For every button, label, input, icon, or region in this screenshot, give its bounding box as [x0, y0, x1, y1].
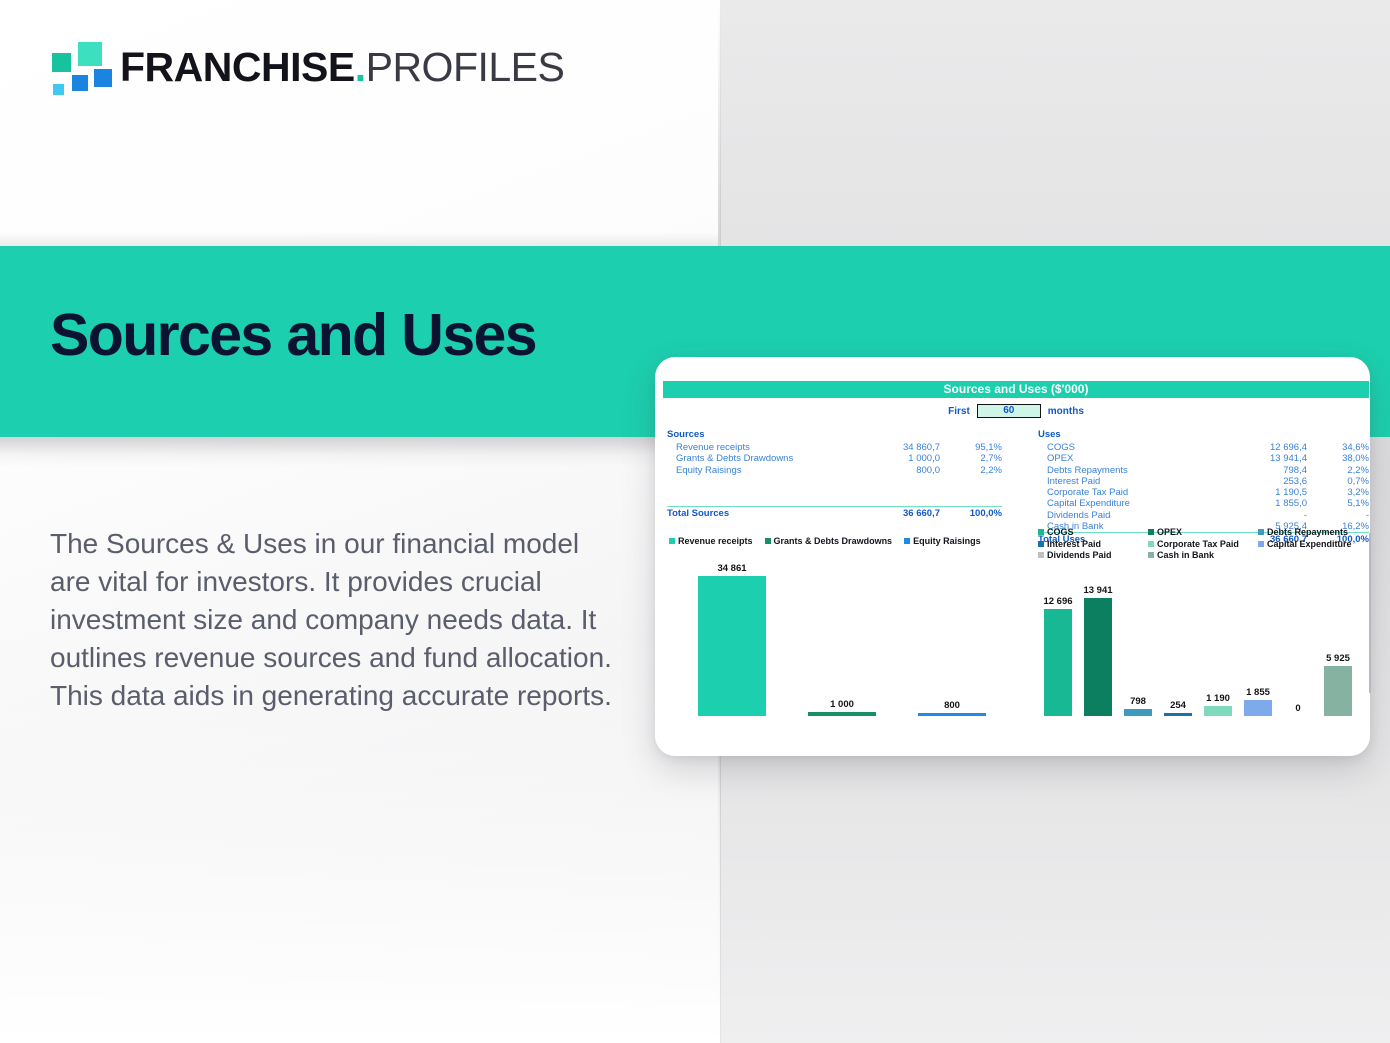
row-label: Interest Paid — [1038, 476, 1221, 487]
row-value: 1 190,5 — [1221, 487, 1307, 498]
period-selector-row: First 60 months — [663, 403, 1369, 419]
logo-square-teal-light — [76, 40, 104, 68]
legend-swatch-icon — [1148, 529, 1154, 535]
logo-square-blue-large — [92, 67, 114, 89]
legend-swatch-icon — [1258, 541, 1264, 547]
legend-swatch-icon — [765, 538, 771, 544]
months-input[interactable]: 60 — [977, 404, 1041, 418]
band-bottom-shadow — [0, 437, 720, 467]
row-label: Dividends Paid — [1038, 510, 1221, 521]
row-value: 1 000,0 — [854, 453, 940, 464]
legend-label: Revenue receipts — [678, 536, 753, 546]
bar — [698, 576, 766, 716]
row-label: Capital Expenditure — [1038, 498, 1221, 509]
period-suffix-label: months — [1048, 406, 1084, 417]
legend-label: Equity Raisings — [913, 536, 981, 546]
total-percent: 100,0% — [940, 508, 1002, 520]
row-percent: 0,7% — [1307, 476, 1369, 487]
legend-label: Capital Expenditure — [1267, 539, 1352, 549]
row-label: Grants & Debts Drawdowns — [667, 453, 854, 464]
legend-swatch-icon — [1258, 529, 1264, 535]
legend-label: OPEX — [1157, 527, 1182, 537]
sources-chart-legend: Revenue receiptsGrants & Debts Drawdowns… — [669, 536, 1009, 546]
row-label: Revenue receipts — [667, 442, 854, 453]
table-row: Interest Paid 253,6 0,7% — [1038, 476, 1369, 487]
bar-value-label: 0 — [1295, 703, 1300, 714]
row-value: 798,4 — [1221, 465, 1307, 476]
row-percent: 2,2% — [940, 465, 1002, 476]
bar-value-label: 5 925 — [1326, 653, 1350, 664]
legend-item[interactable]: Interest Paid — [1038, 539, 1148, 549]
bar-value-label: 34 861 — [717, 563, 746, 574]
table-spacer — [667, 476, 1002, 506]
bar-column[interactable]: 5 925 — [1318, 553, 1358, 716]
total-value: 36 660,7 — [854, 508, 940, 520]
bar — [1164, 713, 1193, 716]
bar — [1204, 706, 1233, 716]
row-percent: 2,2% — [1307, 465, 1369, 476]
bar-column[interactable]: 0 — [1278, 553, 1318, 716]
row-value: 13 941,4 — [1221, 453, 1307, 464]
brand-name-bold: FRANCHISE — [120, 44, 355, 90]
brand-wordmark: FRANCHISE.PROFILES — [120, 47, 564, 88]
bar-value-label: 13 941 — [1083, 585, 1112, 596]
table-row: Grants & Debts Drawdowns 1 000,0 2,7% — [667, 453, 1002, 464]
row-percent: - — [1307, 510, 1369, 521]
legend-item[interactable]: Revenue receipts — [669, 536, 753, 546]
bar — [1124, 709, 1153, 716]
table-row: OPEX 13 941,4 38,0% — [1038, 453, 1369, 464]
legend-item[interactable]: Capital Expenditure — [1258, 539, 1368, 549]
table-row: Dividends Paid - - — [1038, 510, 1369, 521]
sources-total-row: Total Sources 36 660,7 100,0% — [667, 506, 1002, 520]
bar-value-label: 12 696 — [1043, 596, 1072, 607]
legend-swatch-icon — [1038, 529, 1044, 535]
row-value: 34 860,7 — [854, 442, 940, 453]
uses-chart-plot: 12 69613 9417982541 1901 85505 925 — [1038, 553, 1358, 716]
period-prefix-label: First — [948, 406, 970, 417]
page-title: Sources and Uses — [50, 305, 536, 367]
table-row: COGS 12 696,4 34,6% — [1038, 442, 1369, 453]
spreadsheet-panel: Sources and Uses ($'000) First 60 months… — [663, 381, 1363, 741]
legend-label: Debts Repayments — [1267, 527, 1348, 537]
row-percent: 38,0% — [1307, 453, 1369, 464]
legend-swatch-icon — [904, 538, 910, 544]
row-label: Corporate Tax Paid — [1038, 487, 1221, 498]
uses-bar-chart: 12 69613 9417982541 1901 85505 925 — [1038, 553, 1358, 716]
sheet-title-bar: Sources and Uses ($'000) — [663, 381, 1369, 398]
bar — [1324, 666, 1353, 716]
brand-name-thin: PROFILES — [366, 44, 565, 90]
brand-name-dot: . — [355, 44, 366, 90]
legend-item[interactable]: Equity Raisings — [904, 536, 981, 546]
bar-value-label: 798 — [1130, 696, 1146, 707]
table-row: Debts Repayments 798,4 2,2% — [1038, 465, 1369, 476]
bar-value-label: 1 190 — [1206, 693, 1230, 704]
total-label: Total Sources — [667, 508, 854, 520]
logo-square-cyan — [51, 82, 66, 97]
sources-table: Sources Revenue receipts 34 860,7 95,1% … — [667, 429, 1002, 519]
row-label: COGS — [1038, 442, 1221, 453]
row-label: Equity Raisings — [667, 465, 854, 476]
row-percent: 34,6% — [1307, 442, 1369, 453]
sources-table-header: Sources — [667, 429, 1002, 440]
legend-label: Corporate Tax Paid — [1157, 539, 1239, 549]
bar-value-label: 254 — [1170, 700, 1186, 711]
legend-swatch-icon — [669, 538, 675, 544]
legend-item[interactable]: Corporate Tax Paid — [1148, 539, 1258, 549]
bar-column[interactable]: 13 941 — [1078, 553, 1118, 716]
legend-item[interactable]: OPEX — [1148, 527, 1258, 537]
table-row: Corporate Tax Paid 1 190,5 3,2% — [1038, 487, 1369, 498]
bar-column[interactable]: 1 190 — [1198, 553, 1238, 716]
row-value: 1 855,0 — [1221, 498, 1307, 509]
table-row: Revenue receipts 34 860,7 95,1% — [667, 442, 1002, 453]
sources-chart-plot: 34 8611 000800 — [677, 561, 1007, 716]
background-right-top-strip — [720, 0, 1390, 246]
logo-square-teal-dark — [50, 51, 73, 74]
brand-header: FRANCHISE.PROFILES — [48, 38, 564, 96]
bar — [1244, 700, 1273, 716]
bar-column[interactable]: 800 — [897, 561, 1007, 716]
table-row: Capital Expenditure 1 855,0 5,1% — [1038, 498, 1369, 509]
row-percent: 3,2% — [1307, 487, 1369, 498]
legend-item[interactable]: COGS — [1038, 527, 1148, 537]
legend-label: Interest Paid — [1047, 539, 1101, 549]
legend-item[interactable]: Debts Repayments — [1258, 527, 1368, 537]
bar-column[interactable]: 798 — [1118, 553, 1158, 716]
legend-label: COGS — [1047, 527, 1074, 537]
legend-label: Grants & Debts Drawdowns — [774, 536, 893, 546]
sources-bar-chart: 34 8611 000800 — [677, 561, 1007, 716]
row-value: 800,0 — [854, 465, 940, 476]
bar-value-label: 1 855 — [1246, 687, 1270, 698]
row-value: 253,6 — [1221, 476, 1307, 487]
bar-value-label: 800 — [944, 700, 960, 711]
sources-and-uses-card: Sources and Uses ($'000) First 60 months… — [655, 357, 1370, 756]
hero-paragraph: The Sources & Uses in our financial mode… — [50, 525, 620, 715]
bar-column[interactable]: 1 000 — [787, 561, 897, 716]
bar — [808, 712, 876, 716]
row-percent: 95,1% — [940, 442, 1002, 453]
bar — [1084, 598, 1113, 716]
row-value: 12 696,4 — [1221, 442, 1307, 453]
franchise-profiles-logo-icon — [48, 38, 106, 96]
table-row: Equity Raisings 800,0 2,2% — [667, 465, 1002, 476]
row-percent: 2,7% — [940, 453, 1002, 464]
row-label: Debts Repayments — [1038, 465, 1221, 476]
logo-square-blue-small — [70, 73, 90, 93]
row-label: OPEX — [1038, 453, 1221, 464]
legend-swatch-icon — [1148, 541, 1154, 547]
bar-column[interactable]: 1 855 — [1238, 553, 1278, 716]
bar-column[interactable]: 12 696 — [1038, 553, 1078, 716]
card-right-edge-rule — [1369, 533, 1371, 693]
bar-column[interactable]: 34 861 — [677, 561, 787, 716]
bar-column[interactable]: 254 — [1158, 553, 1198, 716]
legend-item[interactable]: Grants & Debts Drawdowns — [765, 536, 893, 546]
bar — [918, 713, 986, 716]
row-value: - — [1221, 510, 1307, 521]
bar — [1044, 609, 1073, 716]
row-percent: 5,1% — [1307, 498, 1369, 509]
legend-swatch-icon — [1038, 541, 1044, 547]
uses-table-header: Uses — [1038, 429, 1369, 440]
bar-value-label: 1 000 — [830, 699, 854, 710]
